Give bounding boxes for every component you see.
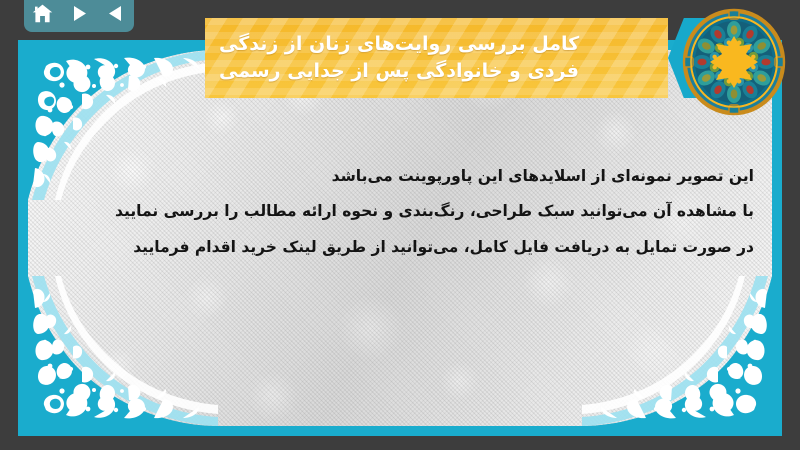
slide-title-line-2: فردی و خانوادگی پس از جدایی رسمی	[219, 58, 579, 85]
triangle-right-icon	[72, 5, 87, 22]
title-band: کامل بررسی روایت‌های زنان از زندگی فردی …	[205, 18, 668, 98]
body-line-1: این تصویر نمونه‌ای از اسلایدهای این پاور…	[58, 168, 754, 185]
slide-navigation-bar	[24, 0, 134, 32]
body-line-2: با مشاهده آن می‌توانید سبک طراحی، رنگ‌بن…	[58, 203, 754, 220]
slide-title-banner: کامل بررسی روایت‌های زنان از زندگی فردی …	[205, 18, 740, 98]
slide-title-line-1: کامل بررسی روایت‌های زنان از زندگی	[219, 31, 579, 58]
triangle-left-icon	[108, 5, 123, 22]
home-button[interactable]	[29, 1, 55, 25]
slide-frame: این تصویر نمونه‌ای از اسلایدهای این پاور…	[18, 40, 782, 436]
slide-viewer: این تصویر نمونه‌ای از اسلایدهای این پاور…	[0, 0, 800, 450]
prev-slide-button[interactable]	[103, 1, 129, 25]
slide-body-text: این تصویر نمونه‌ای از اسلایدهای این پاور…	[58, 168, 754, 256]
home-icon	[32, 4, 53, 23]
title-arrow-tail	[668, 18, 740, 98]
body-line-3: در صورت تمایل به دریافت فایل کامل، می‌تو…	[58, 239, 754, 256]
next-slide-button[interactable]	[66, 1, 92, 25]
